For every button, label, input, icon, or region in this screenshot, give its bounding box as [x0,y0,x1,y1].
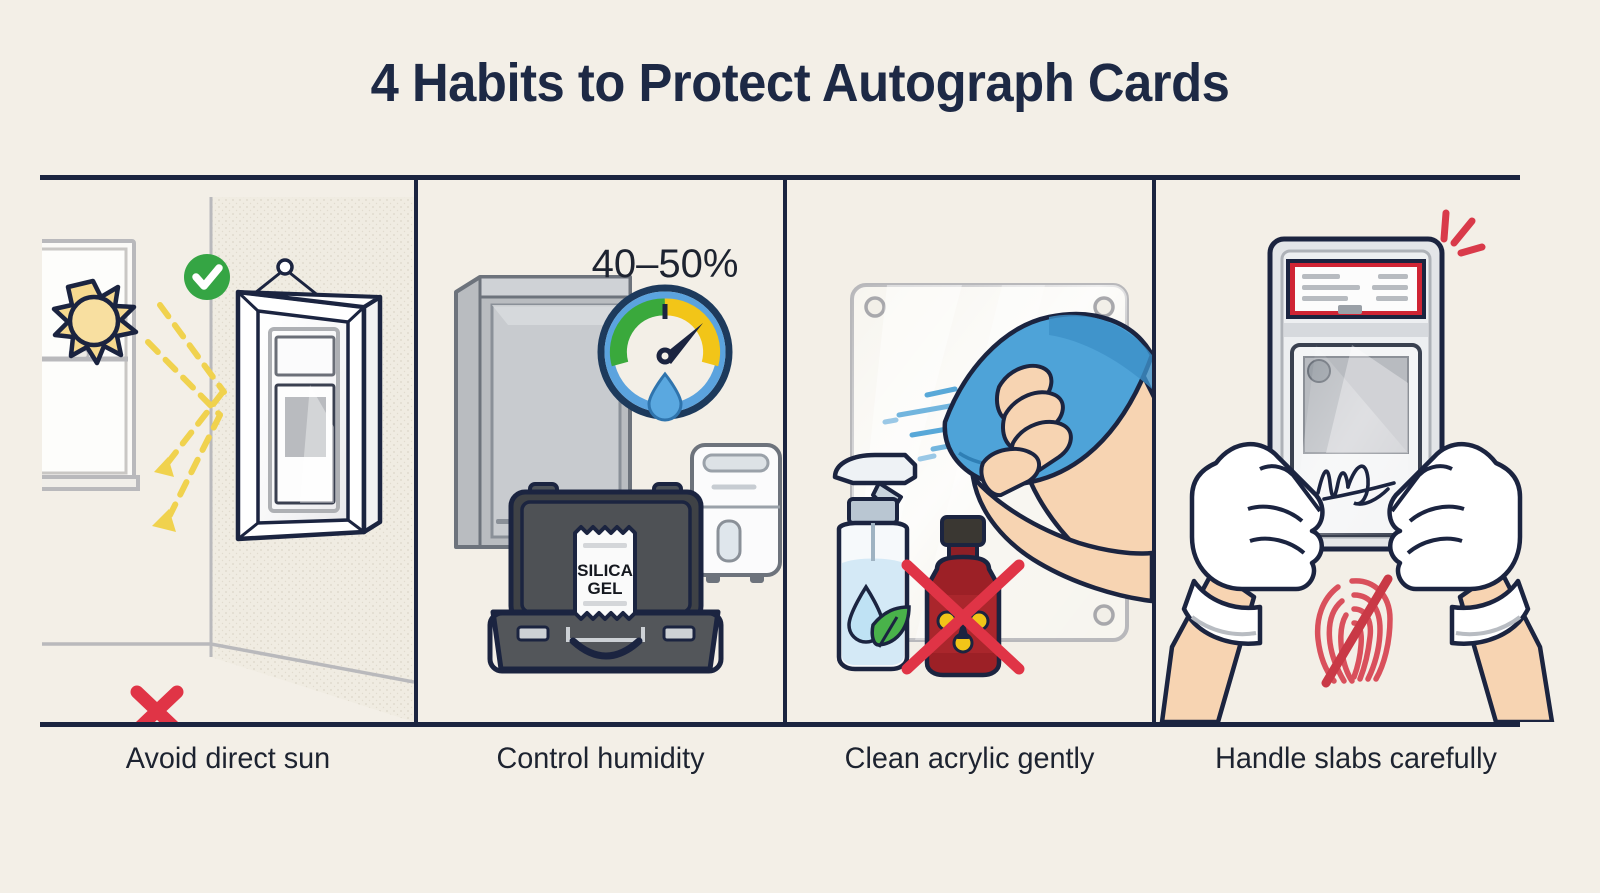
scene-window-sunlight [42,177,414,722]
caption-panel-2: Control humidity [425,742,775,776]
sachet-label-line-1: SILICA [577,561,633,580]
window-frame [42,241,138,489]
infographic-canvas: 4 Habits to Protect Autograph Cards [0,0,1600,893]
scene-gloved-handling [1156,177,1556,722]
panel-handle-slabs [1156,177,1556,722]
caption-panel-1: Avoid direct sun [49,742,406,776]
humidity-gauge-icon [601,288,729,420]
ray-arrowheads [152,457,176,532]
caption-panel-3: Clean acrylic gently [794,742,1144,776]
caution-impact-marks [1444,213,1482,253]
dehumidifier-icon [692,445,780,583]
red-x-icon [137,692,177,722]
scene-acrylic-cleaning [787,177,1152,722]
panel-avoid-direct-sun [42,177,414,722]
grading-label-red [1288,261,1424,317]
wall-mounted-framed-slab [238,260,380,539]
bottom-divider-rule [40,722,1520,727]
no-fingerprint-icon [1318,579,1390,683]
forearms [1162,569,1552,722]
sachet-label-line-2: GEL [588,579,623,598]
silica-gel-sachet: SILICA GEL [575,527,635,619]
panel-control-humidity: 40–50% [418,177,783,722]
scene-humidity-control: 40–50% [418,177,783,722]
page-title: 4 Habits to Protect Autograph Cards [48,52,1552,114]
panel-clean-acrylic [787,177,1152,722]
humidity-range-value: 40–50% [592,242,739,286]
caption-panel-4: Handle slabs carefully [1164,742,1548,776]
green-check-icon [184,254,230,300]
